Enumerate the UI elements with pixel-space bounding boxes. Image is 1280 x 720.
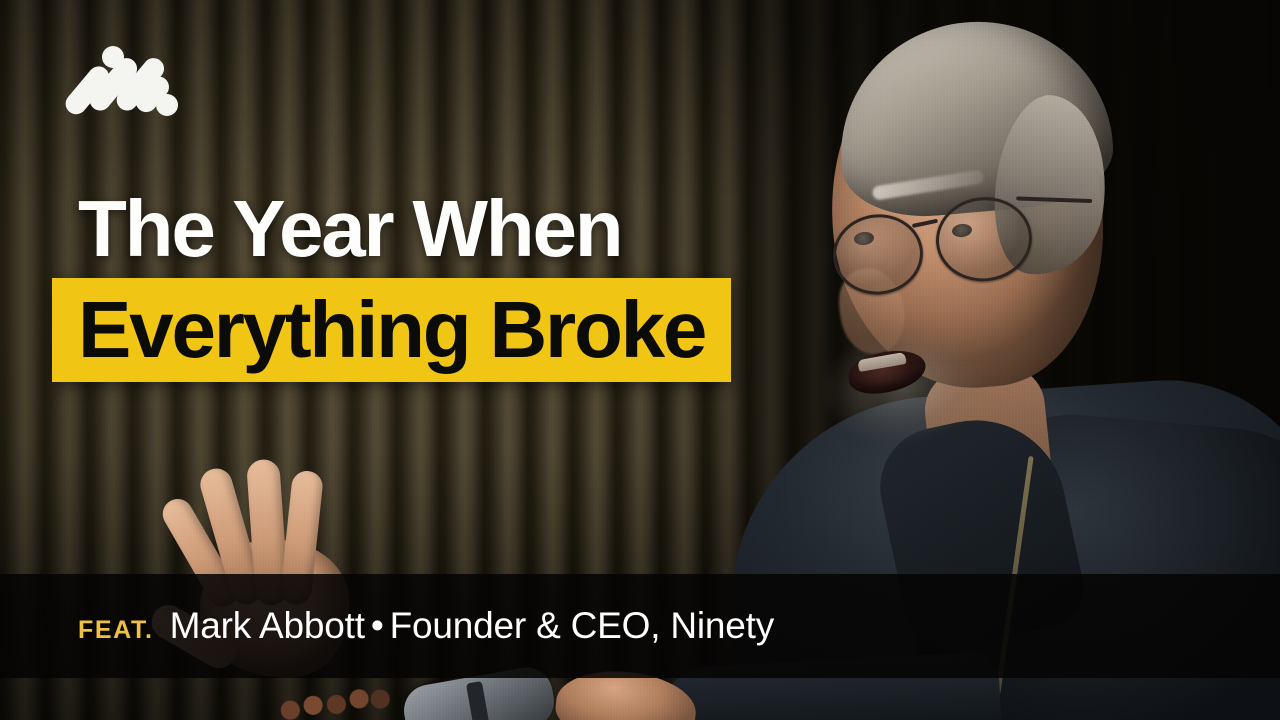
caption-content: FEAT. Mark Abbott • Founder & CEO, Ninet…	[0, 605, 774, 647]
feat-label: FEAT.	[78, 616, 154, 645]
glasses-bridge	[912, 219, 938, 228]
title-highlight-row: Everything Broke	[52, 278, 731, 382]
video-thumbnail: The Year When Everything Broke FEAT. Mar…	[0, 0, 1280, 720]
im-monogram-logo[interactable]	[62, 44, 180, 118]
guest-name: Mark Abbott	[170, 605, 365, 647]
glasses-temple-arm	[1016, 196, 1092, 202]
caption-separator: •	[365, 605, 390, 647]
title-line-1: The Year When	[52, 186, 812, 272]
right-lens	[932, 192, 1036, 286]
guest-caption-bar: FEAT. Mark Abbott • Founder & CEO, Ninet…	[0, 574, 1280, 678]
title-line-2-highlighted: Everything Broke	[52, 278, 731, 382]
title-block: The Year When Everything Broke	[52, 186, 812, 382]
logo-dot-period	[156, 94, 178, 116]
guest-title: Founder & CEO, Ninety	[390, 605, 774, 647]
